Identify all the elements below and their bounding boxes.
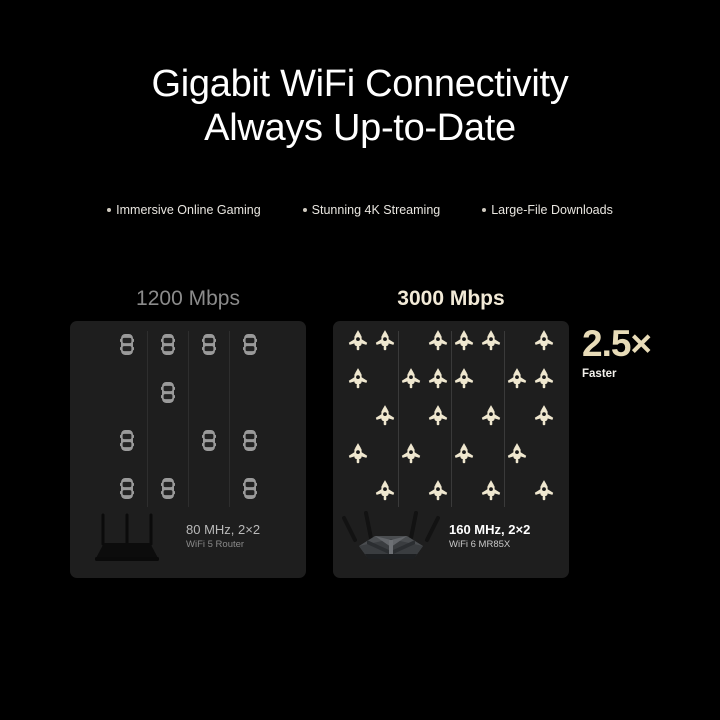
traffic-rocket bbox=[401, 443, 421, 470]
traffic-rocket bbox=[375, 480, 395, 507]
traffic-rocket bbox=[428, 480, 448, 507]
list-item-label: Large-File Downloads bbox=[491, 203, 613, 217]
traffic-car bbox=[161, 478, 175, 505]
lane-divider bbox=[229, 331, 230, 507]
rocket-icon bbox=[428, 330, 448, 352]
rocket-icon bbox=[454, 443, 474, 465]
rocket-icon bbox=[428, 368, 448, 390]
traffic-rocket bbox=[534, 330, 554, 357]
traffic-car bbox=[161, 334, 175, 361]
traffic-car bbox=[243, 478, 257, 505]
rocket-icon bbox=[507, 368, 527, 390]
badge-multiplier: 2.5× bbox=[582, 325, 702, 363]
lane-divider bbox=[188, 331, 189, 507]
list-item: Stunning 4K Streaming bbox=[303, 203, 441, 217]
traffic-rocket bbox=[375, 330, 395, 357]
traffic-lanes-rockets bbox=[333, 321, 569, 517]
device-summary-wifi5: 80 MHz, 2×2 WiFi 5 Router bbox=[70, 510, 306, 564]
car-icon bbox=[161, 478, 175, 500]
speed-label-wifi5: 1200 Mbps bbox=[70, 287, 306, 311]
rocket-icon bbox=[348, 443, 368, 465]
traffic-rocket bbox=[401, 368, 421, 395]
traffic-rocket bbox=[507, 368, 527, 395]
car-icon bbox=[120, 430, 134, 452]
rocket-icon bbox=[481, 480, 501, 502]
device-subtitle: WiFi 5 Router bbox=[186, 538, 306, 552]
car-icon bbox=[202, 334, 216, 356]
traffic-car bbox=[161, 382, 175, 409]
traffic-car bbox=[120, 478, 134, 505]
headline-line-1: Gigabit WiFi Connectivity bbox=[0, 62, 720, 106]
traffic-rocket bbox=[348, 443, 368, 470]
bullet-dot-icon bbox=[303, 208, 307, 212]
rocket-icon bbox=[481, 405, 501, 427]
traffic-car bbox=[120, 334, 134, 361]
traffic-rocket bbox=[481, 330, 501, 357]
device-title: 80 MHz, 2×2 bbox=[186, 522, 306, 538]
rocket-icon bbox=[401, 443, 421, 465]
rocket-icon bbox=[348, 330, 368, 352]
list-item: Large-File Downloads bbox=[482, 203, 613, 217]
bullet-dot-icon bbox=[482, 208, 486, 212]
lane-divider bbox=[398, 331, 399, 507]
rocket-icon bbox=[534, 405, 554, 427]
feature-bullet-list: Immersive Online Gaming Stunning 4K Stre… bbox=[0, 203, 720, 217]
rocket-icon bbox=[454, 330, 474, 352]
list-item: Immersive Online Gaming bbox=[107, 203, 261, 217]
wifi5-router-icon bbox=[70, 510, 186, 564]
badge-caption: Faster bbox=[582, 368, 702, 381]
traffic-rocket bbox=[534, 405, 554, 432]
traffic-rocket bbox=[348, 368, 368, 395]
headline-line-2: Always Up-to-Date bbox=[0, 106, 720, 150]
traffic-car bbox=[243, 430, 257, 457]
lane-divider bbox=[451, 331, 452, 507]
rocket-icon bbox=[375, 330, 395, 352]
traffic-car bbox=[243, 334, 257, 361]
traffic-rocket bbox=[428, 368, 448, 395]
rocket-icon bbox=[428, 480, 448, 502]
page-title: Gigabit WiFi Connectivity Always Up-to-D… bbox=[0, 62, 720, 150]
list-item-label: Stunning 4K Streaming bbox=[312, 203, 441, 217]
comparison-panel-wifi6: 160 MHz, 2×2 WiFi 6 MR85X bbox=[333, 321, 569, 578]
device-text-wifi5: 80 MHz, 2×2 WiFi 5 Router bbox=[186, 522, 306, 552]
traffic-rocket bbox=[481, 480, 501, 507]
traffic-rocket bbox=[534, 480, 554, 507]
device-text-wifi6: 160 MHz, 2×2 WiFi 6 MR85X bbox=[449, 522, 569, 552]
car-icon bbox=[161, 382, 175, 404]
rocket-icon bbox=[348, 368, 368, 390]
lane-divider bbox=[504, 331, 505, 507]
rocket-icon bbox=[507, 443, 527, 465]
car-icon bbox=[120, 334, 134, 356]
traffic-rocket bbox=[348, 330, 368, 357]
rocket-icon bbox=[428, 405, 448, 427]
traffic-rocket bbox=[454, 443, 474, 470]
car-icon bbox=[243, 478, 257, 500]
car-icon bbox=[161, 334, 175, 356]
status-badge: 2.5× Faster bbox=[582, 325, 702, 381]
traffic-rocket bbox=[534, 368, 554, 395]
rocket-icon bbox=[454, 368, 474, 390]
traffic-car bbox=[202, 334, 216, 361]
traffic-car bbox=[202, 430, 216, 457]
rocket-icon bbox=[375, 480, 395, 502]
traffic-rocket bbox=[375, 405, 395, 432]
traffic-lanes-cars bbox=[70, 321, 306, 517]
car-icon bbox=[202, 430, 216, 452]
car-icon bbox=[243, 430, 257, 452]
car-icon bbox=[243, 334, 257, 356]
traffic-rocket bbox=[454, 330, 474, 357]
rocket-icon bbox=[534, 368, 554, 390]
traffic-rocket bbox=[454, 368, 474, 395]
rocket-icon bbox=[534, 480, 554, 502]
speed-label-wifi6: 3000 Mbps bbox=[333, 287, 569, 311]
device-summary-wifi6: 160 MHz, 2×2 WiFi 6 MR85X bbox=[333, 510, 569, 564]
list-item-label: Immersive Online Gaming bbox=[116, 203, 261, 217]
rocket-icon bbox=[534, 330, 554, 352]
car-icon bbox=[120, 478, 134, 500]
promo-graphic: Gigabit WiFi Connectivity Always Up-to-D… bbox=[0, 0, 720, 720]
rocket-icon bbox=[401, 368, 421, 390]
rocket-icon bbox=[481, 330, 501, 352]
wifi6-router-icon bbox=[333, 510, 449, 564]
comparison-panel-wifi5: 80 MHz, 2×2 WiFi 5 Router bbox=[70, 321, 306, 578]
lane-divider bbox=[147, 331, 148, 507]
device-subtitle: WiFi 6 MR85X bbox=[449, 538, 569, 552]
device-title: 160 MHz, 2×2 bbox=[449, 522, 569, 538]
traffic-rocket bbox=[428, 405, 448, 432]
rocket-icon bbox=[375, 405, 395, 427]
traffic-rocket bbox=[428, 330, 448, 357]
traffic-car bbox=[120, 430, 134, 457]
bullet-dot-icon bbox=[107, 208, 111, 212]
traffic-rocket bbox=[481, 405, 501, 432]
traffic-rocket bbox=[507, 443, 527, 470]
